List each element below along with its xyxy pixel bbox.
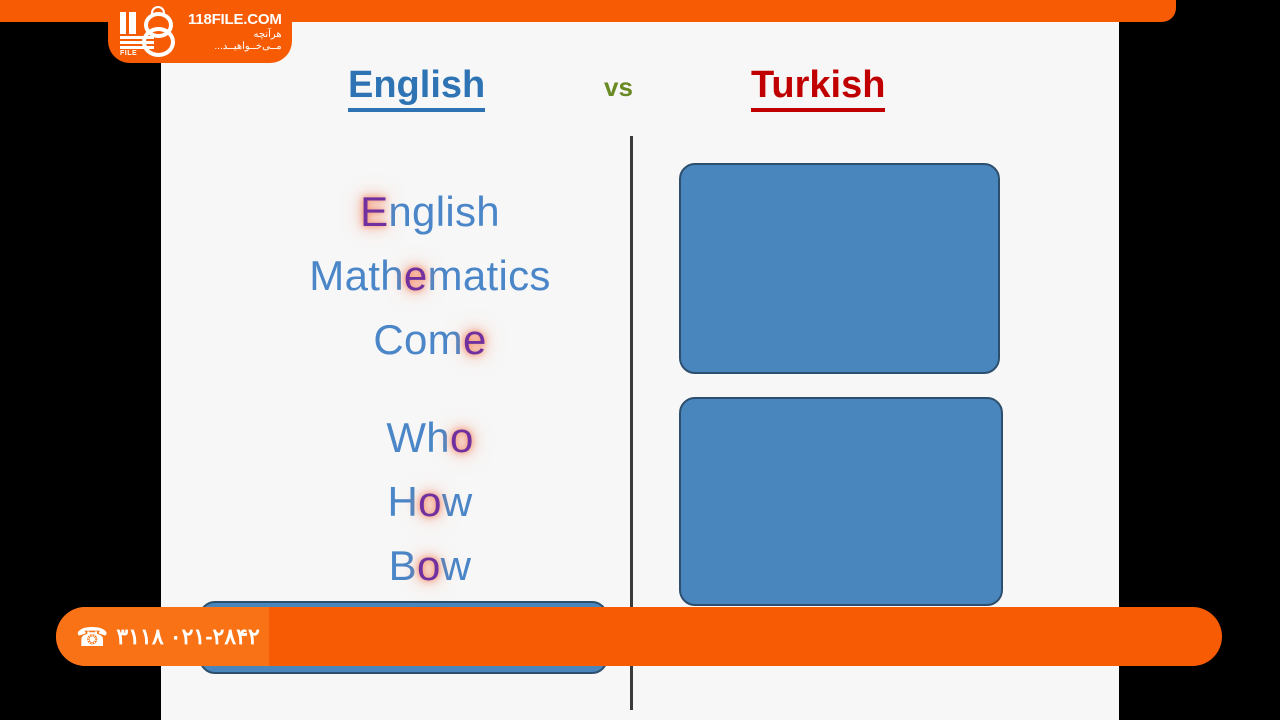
word-prefix: Wh bbox=[386, 414, 450, 461]
header-language-right: Turkish bbox=[751, 64, 885, 112]
word-item: Come bbox=[230, 308, 630, 372]
logo-file-tag: FILE bbox=[120, 50, 137, 57]
phone-number-label: ۰۲۱-۲۸۴۲ ۳۱۱۸ bbox=[116, 624, 259, 650]
logo-eight-icon bbox=[140, 10, 170, 52]
word-item: How bbox=[230, 470, 630, 534]
phone-contact-pill[interactable]: ☎ ۰۲۱-۲۸۴۲ ۳۱۱۸ bbox=[56, 607, 269, 666]
header-language-left: English bbox=[348, 64, 485, 112]
word-prefix: H bbox=[388, 478, 419, 525]
word-prefix: B bbox=[389, 542, 417, 589]
word-highlight-letter: o bbox=[417, 534, 441, 598]
logo-digit-one-b bbox=[129, 12, 136, 34]
word-suffix: nglish bbox=[388, 188, 500, 235]
word-highlight-letter: e bbox=[404, 244, 428, 308]
word-prefix: Math bbox=[309, 252, 404, 299]
logo-digit-one-a bbox=[120, 12, 126, 34]
logo-tagline-line1: هرآنچه bbox=[188, 30, 282, 40]
word-item: Bow bbox=[230, 534, 630, 598]
word-suffix: w bbox=[441, 542, 472, 589]
word-item: Who bbox=[230, 406, 630, 470]
answer-box-turkish-top[interactable] bbox=[679, 163, 1000, 374]
word-item: Mathematics bbox=[230, 244, 630, 308]
word-suffix: w bbox=[442, 478, 473, 525]
logo-text-block: 118FILE.COM هرآنچه مــی‌خــواهیــد... bbox=[188, 12, 282, 52]
logo-antenna-icon bbox=[151, 6, 165, 15]
slide-stage: FILE 118FILE.COM هرآنچه مــی‌خــواهیــد.… bbox=[0, 0, 1280, 720]
brand-logo-badge[interactable]: FILE 118FILE.COM هرآنچه مــی‌خــواهیــد.… bbox=[108, 0, 292, 63]
word-highlight-letter: e bbox=[463, 308, 487, 372]
logo-mark-icon: FILE bbox=[120, 9, 182, 55]
logo-title: 118FILE.COM bbox=[188, 12, 282, 27]
word-group-a: English Mathematics Come bbox=[230, 180, 630, 371]
logo-tagline-line2: مــی‌خــواهیــد... bbox=[188, 42, 282, 52]
word-highlight-letter: E bbox=[360, 180, 388, 244]
word-prefix: Com bbox=[373, 316, 463, 363]
word-suffix: matics bbox=[428, 252, 551, 299]
word-highlight-letter: o bbox=[418, 470, 442, 534]
header-vs-label: vs bbox=[604, 72, 633, 103]
answer-box-turkish-bottom[interactable] bbox=[679, 397, 1003, 606]
phone-icon: ☎ bbox=[76, 624, 108, 650]
word-item: English bbox=[230, 180, 630, 244]
word-highlight-letter: o bbox=[450, 406, 474, 470]
word-group-b: Who How Bow bbox=[230, 406, 630, 597]
